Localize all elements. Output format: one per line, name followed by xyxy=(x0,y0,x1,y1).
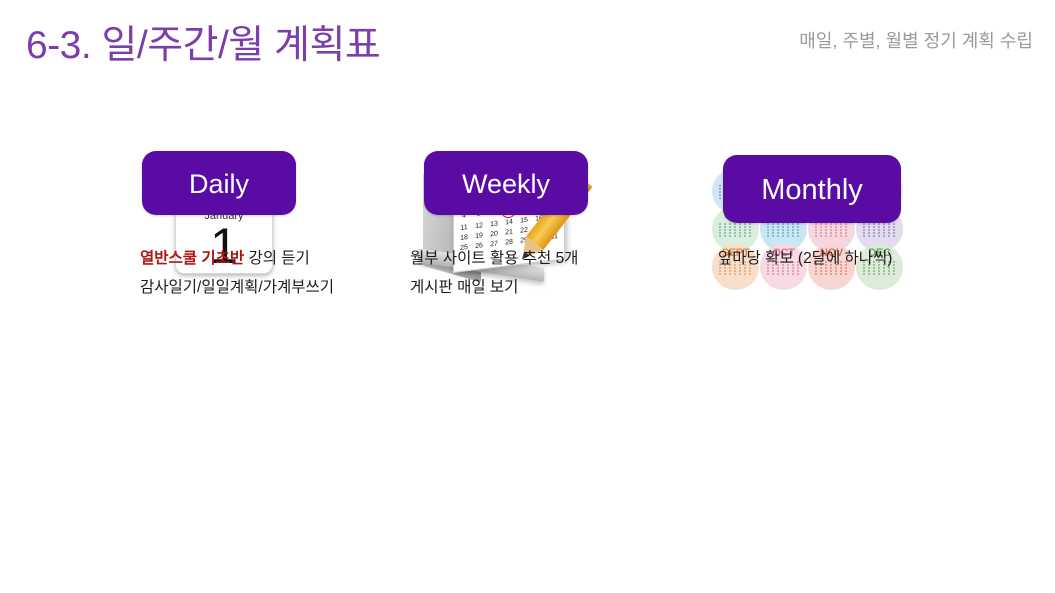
mini-date-dot xyxy=(835,226,837,228)
mini-date-dot xyxy=(797,273,799,275)
mini-date-dot xyxy=(777,229,779,231)
mini-date-dot xyxy=(719,226,721,228)
mini-date-dot xyxy=(893,267,895,269)
mini-date-dot xyxy=(719,232,721,234)
mini-date-dot xyxy=(873,223,875,225)
month-mini-date-grid xyxy=(863,223,897,237)
mini-date-dot xyxy=(729,232,731,234)
mini-date-dot xyxy=(772,229,774,231)
mini-date-dot xyxy=(825,229,827,231)
mini-date-dot xyxy=(815,232,817,234)
mini-date-dot xyxy=(893,229,895,231)
mini-date-dot xyxy=(888,226,890,228)
mini-date-dot xyxy=(777,273,779,275)
monthly-button[interactable]: Monthly xyxy=(723,155,901,223)
mini-date-dot xyxy=(772,232,774,234)
mini-date-dot xyxy=(878,273,880,275)
daily-caption-line-2: 감사일기/일일계획/가계부쓰기 xyxy=(140,273,334,302)
mini-date-dot xyxy=(797,232,799,234)
mini-date-dot xyxy=(719,235,721,237)
daily-caption-rest: 강의 듣기 xyxy=(244,250,310,267)
mini-date-dot xyxy=(729,226,731,228)
mini-date-dot xyxy=(873,226,875,228)
mini-date-dot xyxy=(845,273,847,275)
mini-date-dot xyxy=(840,232,842,234)
mini-date-dot xyxy=(749,226,751,228)
mini-date-dot xyxy=(873,273,875,275)
mini-date-dot xyxy=(767,232,769,234)
mini-date-dot xyxy=(719,273,721,275)
mini-date-dot xyxy=(863,273,865,275)
mini-date-dot xyxy=(719,188,721,190)
mini-date-dot xyxy=(767,226,769,228)
mini-date-dot xyxy=(825,226,827,228)
mini-date-dot xyxy=(744,273,746,275)
mini-date-dot xyxy=(868,232,870,234)
mini-date-dot xyxy=(782,229,784,231)
monthly-caption: 앞마당 확보 (2달에 하나씩) xyxy=(718,244,892,273)
mini-date-dot xyxy=(767,223,769,225)
mini-date-dot xyxy=(724,229,726,231)
mini-date-dot xyxy=(825,235,827,237)
mini-date-dot xyxy=(868,273,870,275)
page-title: 6-3. 일/주간/월 계획표 xyxy=(26,14,380,70)
mini-date-dot xyxy=(734,226,736,228)
mini-date-dot xyxy=(749,229,751,231)
mini-date-dot xyxy=(734,229,736,231)
mini-date-dot xyxy=(845,235,847,237)
mini-date-dot xyxy=(893,270,895,272)
mini-date-dot xyxy=(792,273,794,275)
mini-date-dot xyxy=(830,235,832,237)
mini-date-dot xyxy=(739,232,741,234)
mini-date-dot xyxy=(830,226,832,228)
month-mini-date-grid xyxy=(815,223,849,237)
mini-date-dot xyxy=(744,229,746,231)
mini-date-dot xyxy=(744,226,746,228)
mini-date-dot xyxy=(883,223,885,225)
mini-date-dot xyxy=(719,191,721,193)
mini-date-dot xyxy=(845,232,847,234)
mini-date-dot xyxy=(782,226,784,228)
mini-date-dot xyxy=(893,232,895,234)
mini-date-dot xyxy=(782,235,784,237)
mini-date-dot xyxy=(797,229,799,231)
mini-date-dot xyxy=(787,232,789,234)
mini-date-dot xyxy=(868,229,870,231)
mini-date-dot xyxy=(878,223,880,225)
mini-date-dot xyxy=(845,229,847,231)
mini-date-dot xyxy=(749,232,751,234)
mini-date-dot xyxy=(883,235,885,237)
mini-date-dot xyxy=(883,232,885,234)
month-mini-date-grid xyxy=(767,223,801,237)
mini-date-dot xyxy=(729,273,731,275)
mini-date-dot xyxy=(888,223,890,225)
mini-date-dot xyxy=(815,226,817,228)
mini-date-dot xyxy=(888,273,890,275)
mini-date-dot xyxy=(787,235,789,237)
mini-date-dot xyxy=(739,273,741,275)
mini-date-dot xyxy=(792,226,794,228)
mini-date-dot xyxy=(724,235,726,237)
mini-date-dot xyxy=(883,226,885,228)
mini-date-dot xyxy=(820,235,822,237)
mini-date-dot xyxy=(739,235,741,237)
mini-date-dot xyxy=(724,226,726,228)
mini-date-dot xyxy=(777,226,779,228)
mini-date-dot xyxy=(840,235,842,237)
mini-date-dot xyxy=(830,229,832,231)
mini-date-dot xyxy=(868,235,870,237)
mini-date-dot xyxy=(878,232,880,234)
mini-date-dot xyxy=(835,232,837,234)
mini-date-dot xyxy=(792,229,794,231)
mini-date-dot xyxy=(815,273,817,275)
mini-date-dot xyxy=(749,235,751,237)
mini-date-dot xyxy=(719,185,721,187)
mini-date-dot xyxy=(772,273,774,275)
mini-date-dot xyxy=(767,273,769,275)
mini-date-dot xyxy=(719,197,721,199)
mini-date-dot xyxy=(863,235,865,237)
mini-date-dot xyxy=(767,235,769,237)
monthly-caption-line-1: 앞마당 확보 (2달에 하나씩) xyxy=(718,244,892,273)
mini-date-dot xyxy=(777,235,779,237)
mini-date-dot xyxy=(893,226,895,228)
mini-date-dot xyxy=(873,229,875,231)
mini-date-dot xyxy=(820,273,822,275)
mini-date-dot xyxy=(815,235,817,237)
mini-date-dot xyxy=(729,235,731,237)
mini-date-dot xyxy=(820,229,822,231)
mini-date-dot xyxy=(878,235,880,237)
mini-date-dot xyxy=(873,232,875,234)
mini-date-dot xyxy=(739,226,741,228)
mini-date-dot xyxy=(830,232,832,234)
mini-date-dot xyxy=(729,229,731,231)
weekly-button[interactable]: Weekly xyxy=(424,151,588,215)
mini-date-dot xyxy=(744,232,746,234)
mini-date-dot xyxy=(893,273,895,275)
mini-date-dot xyxy=(734,232,736,234)
mini-date-dot xyxy=(835,273,837,275)
month-mini-date-grid xyxy=(719,223,753,237)
mini-date-dot xyxy=(772,235,774,237)
mini-date-dot xyxy=(767,229,769,231)
weekly-caption-line-2: 게시판 매일 보기 xyxy=(410,273,578,302)
mini-date-dot xyxy=(719,194,721,196)
mini-date-dot xyxy=(724,223,726,225)
slide-subtitle: 매일, 주별, 월별 정기 계획 수립 xyxy=(799,27,1033,53)
mini-date-dot xyxy=(883,273,885,275)
mini-date-dot xyxy=(863,232,865,234)
mini-date-dot xyxy=(744,223,746,225)
mini-date-dot xyxy=(893,261,895,263)
mini-date-dot xyxy=(815,229,817,231)
mini-date-dot xyxy=(719,229,721,231)
mini-date-dot xyxy=(840,226,842,228)
mini-date-dot xyxy=(840,273,842,275)
mini-date-dot xyxy=(825,273,827,275)
mini-date-dot xyxy=(888,235,890,237)
mini-date-dot xyxy=(820,232,822,234)
mini-date-dot xyxy=(724,273,726,275)
daily-caption: 열반스쿨 기초반 강의 듣기 감사일기/일일계획/가계부쓰기 xyxy=(140,244,334,302)
mini-date-dot xyxy=(835,235,837,237)
mini-date-dot xyxy=(893,264,895,266)
mini-date-dot xyxy=(868,226,870,228)
mini-date-dot xyxy=(863,223,865,225)
mini-date-dot xyxy=(739,223,741,225)
mini-date-dot xyxy=(797,226,799,228)
mini-date-dot xyxy=(868,223,870,225)
daily-button[interactable]: Daily xyxy=(142,151,296,215)
mini-date-dot xyxy=(772,226,774,228)
weekly-caption-line-1: 월부 사이트 활용 추천 5개 xyxy=(410,244,578,273)
mini-date-dot xyxy=(782,273,784,275)
mini-date-dot xyxy=(820,226,822,228)
mini-date-dot xyxy=(724,232,726,234)
mini-date-dot xyxy=(749,273,751,275)
mini-date-dot xyxy=(893,235,895,237)
mini-date-dot xyxy=(888,232,890,234)
mini-date-dot xyxy=(878,226,880,228)
mini-date-dot xyxy=(719,223,721,225)
mini-date-dot xyxy=(845,226,847,228)
mini-date-dot xyxy=(792,235,794,237)
daily-caption-line-1: 열반스쿨 기초반 강의 듣기 xyxy=(140,244,334,273)
mini-date-dot xyxy=(878,229,880,231)
mini-date-dot xyxy=(792,232,794,234)
mini-date-dot xyxy=(840,229,842,231)
mini-date-dot xyxy=(744,235,746,237)
mini-date-dot xyxy=(830,273,832,275)
daily-caption-accent: 열반스쿨 기초반 xyxy=(140,250,244,267)
mini-date-dot xyxy=(734,273,736,275)
mini-date-dot xyxy=(749,223,751,225)
mini-date-dot xyxy=(734,223,736,225)
mini-date-dot xyxy=(787,273,789,275)
mini-date-dot xyxy=(825,232,827,234)
mini-date-dot xyxy=(873,235,875,237)
mini-date-dot xyxy=(797,235,799,237)
mini-date-dot xyxy=(787,226,789,228)
mini-date-dot xyxy=(787,229,789,231)
mini-date-dot xyxy=(782,232,784,234)
mini-date-dot xyxy=(835,229,837,231)
mini-date-dot xyxy=(734,235,736,237)
mini-date-dot xyxy=(863,226,865,228)
mini-date-dot xyxy=(729,223,731,225)
mini-date-dot xyxy=(777,232,779,234)
mini-date-dot xyxy=(888,229,890,231)
mini-date-dot xyxy=(893,223,895,225)
mini-date-dot xyxy=(883,229,885,231)
weekly-caption: 월부 사이트 활용 추천 5개 게시판 매일 보기 xyxy=(410,244,578,302)
mini-date-dot xyxy=(739,229,741,231)
mini-date-dot xyxy=(863,229,865,231)
